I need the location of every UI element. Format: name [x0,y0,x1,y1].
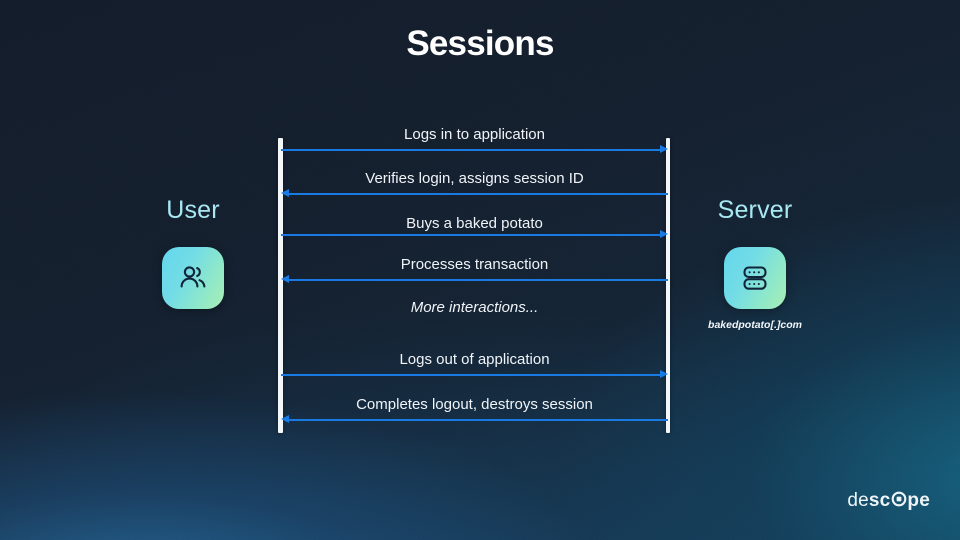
logo-text-de: de [847,490,869,512]
arrow-shaft [288,193,668,195]
arrow-head [660,230,668,238]
sequence-message-label: More interactions... [281,299,668,316]
scope-target-icon [891,491,907,513]
sequence-arrow-left [281,275,668,284]
descope-logo: desc pe [847,490,930,512]
sequence-message-label: Processes transaction [281,256,668,273]
arrow-shaft [281,149,661,151]
arrow-shaft [281,234,661,236]
arrow-head [660,370,668,378]
sequence-message-label: Logs out of application [281,351,668,368]
sequence-diagram: Logs in to applicationVerifies login, as… [0,0,960,540]
sequence-message-label: Logs in to application [281,126,668,143]
logo-text-sc: sc [869,490,891,512]
sequence-arrow-right [281,230,668,239]
arrow-shaft [288,419,668,421]
logo-text-pe: pe [907,490,930,512]
arrow-head [660,145,668,153]
arrow-shaft [288,279,668,281]
arrow-head [281,189,289,197]
sequence-message-label: Completes logout, destroys session [281,396,668,413]
sequence-arrow-left [281,189,668,198]
arrow-shaft [281,374,661,376]
sequence-arrow-right [281,370,668,379]
sequence-arrow-left [281,415,668,424]
slide-canvas: Sessions User Server [0,0,960,540]
sequence-message-label: Verifies login, assigns session ID [281,170,668,187]
arrow-head [281,415,289,423]
arrow-head [281,275,289,283]
sequence-arrow-right [281,145,668,154]
